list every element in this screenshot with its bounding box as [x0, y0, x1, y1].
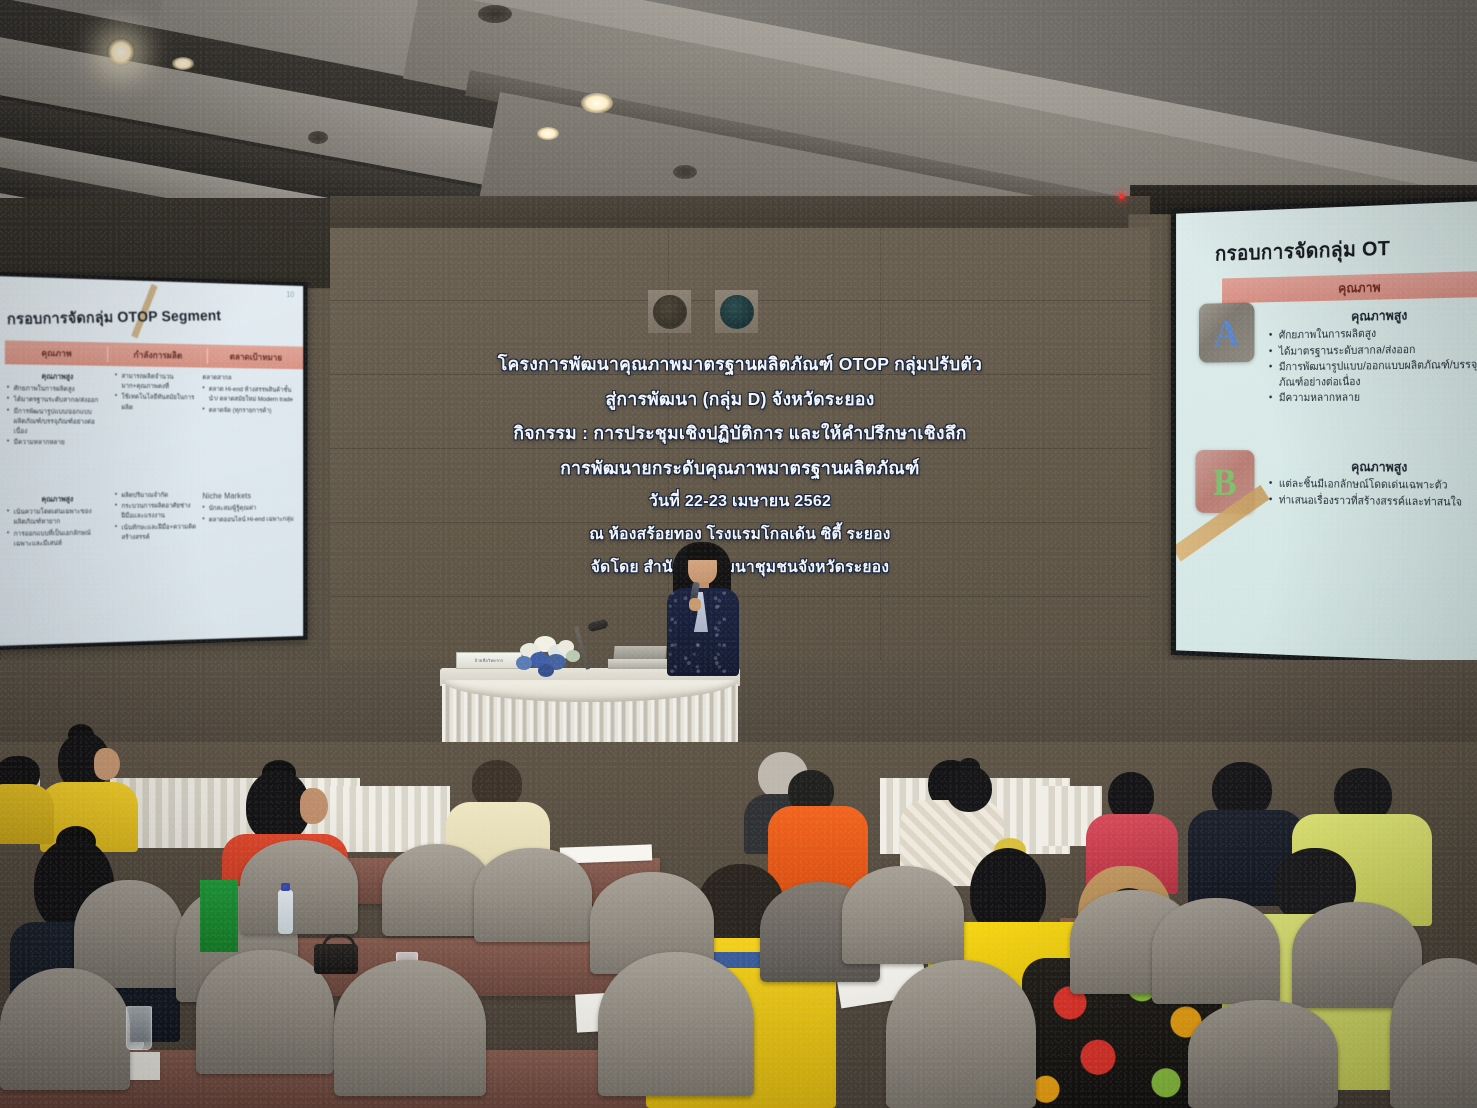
flower-arrangement	[512, 636, 584, 678]
grade-a-product-thumbnail: A	[1199, 303, 1254, 363]
row1-quality-bullet: ศักยภาพในการผลิตสูง	[7, 384, 107, 395]
row1-market-cell: ตลาดสากล ตลาด Hi-end ห้างสรรพสินค้าชั้นน…	[202, 373, 299, 417]
row1-market-bullet: ตลาด Hi-end ห้างสรรพสินค้าชั้นนำ/ ตลาดสม…	[202, 385, 299, 406]
audience-chair	[334, 960, 486, 1096]
row1-quality-bullet: ได้มาตรฐานระดับสากล/ส่งออก	[7, 396, 107, 407]
cdd-emblem-logo	[648, 290, 691, 333]
row1-market-plain: ตลาดสากล	[202, 373, 299, 384]
audience-chair	[886, 960, 1036, 1108]
water-glass	[126, 1006, 152, 1050]
row1-market-bullet: ตลาดจัด (ทุกรายการค้า)	[202, 406, 299, 417]
ceiling-vent	[478, 5, 512, 23]
projection-screen-right[interactable]: กรอบการจัดกลุ่ม OT คุณภาพ A B คุณภาพสูง …	[1171, 196, 1477, 668]
audience-chair	[0, 968, 130, 1090]
row2-capacity-bullet: ผลิตปริมาณจำกัด	[115, 491, 197, 501]
audience-chair	[842, 866, 964, 964]
section-b-bullet: แต่ละชิ้นมีเอกลักษณ์โดดเด่นเฉพาะตัว	[1269, 477, 1477, 494]
projection-screen-left[interactable]: 10 กรอบการจัดกลุ่ม OTOP Segment คุณภาพ ก…	[0, 272, 308, 650]
section-b-bullet-list: แต่ละชิ้นมีเอกลักษณ์โดดเด่นเฉพาะตัว ท่าเ…	[1269, 477, 1477, 512]
handbag	[314, 944, 358, 974]
row2-market-bullet: นักสะสม/ผู้รู้คุณค่า	[202, 504, 299, 515]
backdrop-line-3: กิจกรรม : การประชุมเชิงปฏิบัติการ และให้…	[330, 425, 1150, 443]
speaker-hair-front	[685, 544, 720, 560]
row2-capacity-bullet: เน้นทักษะและฝีมือ+ความคิดสร้างสรรค์	[115, 522, 197, 543]
row2-quality-bullet: การออกแบบที่เป็นเอกลักษณ์เฉพาะและมีเสน่ห…	[7, 528, 107, 550]
section-a-subtitle: คุณภาพสูง	[1282, 303, 1477, 328]
grade-a-letter: A	[1199, 303, 1254, 363]
row2-market-bullet: ตลาดออนไลน์ Hi-end เฉพาะกลุ่ม	[202, 515, 299, 526]
row1-quality-bullet: มีการพัฒนารูปแบบ/ออกแบบผลิตภัณฑ์/บรรจุภั…	[7, 407, 107, 438]
backdrop-line-1: โครงการพัฒนาคุณภาพมาตรฐานผลิตภัณฑ์ OTOP …	[330, 356, 1150, 374]
ceiling-downlight	[537, 127, 559, 140]
row1-capacity-cell: สามารถผลิตจำนวนมาก+คุณภาพคงที่ ใช้เทคโนโ…	[115, 372, 197, 415]
ceiling-downlight	[581, 93, 613, 113]
section-a-bullet: มีความหลากหลาย	[1269, 390, 1477, 407]
row2-market-heading: Niche Markets	[202, 490, 299, 502]
section-a-bullet-list: ศักยภาพในการผลิตสูง ได้มาตรฐานระดับสากล/…	[1269, 325, 1477, 408]
attendee-person	[928, 758, 1008, 828]
slide-table-header: คุณภาพ กำลังการผลิต ตลาดเป้าหมาย	[5, 340, 303, 369]
column-header-quality: คุณภาพ	[5, 345, 107, 361]
section-a-bullet: ได้มาตรฐานระดับสากล/ส่งออก	[1269, 342, 1477, 361]
audience-chair	[240, 840, 358, 934]
backdrop-line-2: สู่การพัฒนา (กลุ่ม D) จังหวัดระยอง	[330, 391, 1150, 409]
slide-number: 10	[286, 290, 294, 299]
ceiling-vent	[673, 165, 697, 179]
audience-chair	[598, 952, 754, 1096]
row2-quality-bullet: เน้นความโดดเด่นเฉพาะของผลิตภัณฑ์หายาก	[7, 507, 107, 528]
slide-right-header-label: คุณภาพ	[1338, 276, 1380, 298]
row1-capacity-bullet: สามารถผลิตจำนวนมาก+คุณภาพคงที่	[115, 372, 197, 393]
row1-capacity-bullet: ใช้เทคโนโลยีทันสมัยในการผลิต	[115, 393, 197, 414]
backdrop-logos	[648, 290, 758, 333]
tote-bag	[200, 880, 238, 952]
ceiling-downlight	[107, 38, 135, 66]
slide-right-header-band: คุณภาพ	[1222, 270, 1477, 303]
row2-market-cell: Niche Markets นักสะสม/ผู้รู้คุณค่า ตลาดอ…	[202, 490, 299, 526]
row2-quality-cell: คุณภาพสูง เน้นความโดดเด่นเฉพาะของผลิตภัณ…	[7, 493, 107, 550]
row1-quality-bullet: มีความหลากหลาย	[7, 438, 107, 448]
backdrop-line-5: วันที่ 22-23 เมษายน 2562	[330, 494, 1150, 510]
slide-left: 10 กรอบการจัดกลุ่ม OTOP Segment คุณภาพ ก…	[0, 276, 303, 646]
row2-quality-label: คุณภาพสูง	[7, 493, 107, 505]
wall-top-strip	[330, 196, 1150, 230]
column-header-market: ตลาดเป้าหมาย	[208, 349, 303, 364]
speaker-presenter	[655, 540, 751, 675]
name-card-text: ป้ายชื่อวิทยากร	[475, 657, 504, 664]
backdrop-line-4: การพัฒนายกระดับคุณภาพมาตรฐานผลิตภัณฑ์	[330, 460, 1150, 478]
conference-room-photo: โครงการพัฒนาคุณภาพมาตรฐานผลิตภัณฑ์ OTOP …	[0, 0, 1477, 1108]
slide-title-left: กรอบการจัดกลุ่ม OTOP Segment	[6, 304, 221, 331]
section-a-bullet: มีการพัฒนารูปแบบ/ออกแบบผลิตภัณฑ์/บรรจุภั…	[1269, 358, 1477, 391]
slide-right: กรอบการจัดกลุ่ม OT คุณภาพ A B คุณภาพสูง …	[1176, 201, 1477, 663]
audience-chair	[1152, 898, 1280, 1004]
ceiling-vent	[308, 131, 328, 144]
column-header-capacity: กำลังการผลิต	[108, 347, 207, 362]
ceiling-downlight	[172, 57, 194, 70]
equipment-led-indicator	[1119, 194, 1124, 199]
audience-chair	[1188, 1000, 1338, 1108]
attendee-person	[0, 756, 56, 836]
speaker-hand	[689, 598, 701, 611]
row1-quality-cell: คุณภาพสูง ศักยภาพในการผลิตสูง ได้มาตรฐาน…	[7, 370, 107, 449]
section-b-subtitle: คุณภาพสูง	[1282, 456, 1477, 478]
section-b-bullet: ท่าเสนอเรื่องราวที่สร้างสรรค์และท่าสนใจ	[1269, 493, 1477, 511]
row1-quality-label: คุณภาพสูง	[7, 370, 107, 383]
water-bottle	[278, 890, 293, 934]
slide-title-right: กรอบการจัดกลุ่ม OT	[1215, 232, 1390, 270]
audience-chair	[474, 848, 592, 942]
row2-capacity-cell: ผลิตปริมาณจำกัด กระบวนการผลิตอาศัยช่างฝี…	[115, 491, 197, 544]
section-a-bullet: ศักยภาพในการผลิตสูง	[1269, 325, 1477, 344]
provincial-seal-logo	[715, 290, 758, 333]
row2-capacity-bullet: กระบวนการผลิตอาศัยช่างฝีมือและแรงงาน	[115, 502, 197, 523]
ceiling	[0, 0, 1477, 215]
